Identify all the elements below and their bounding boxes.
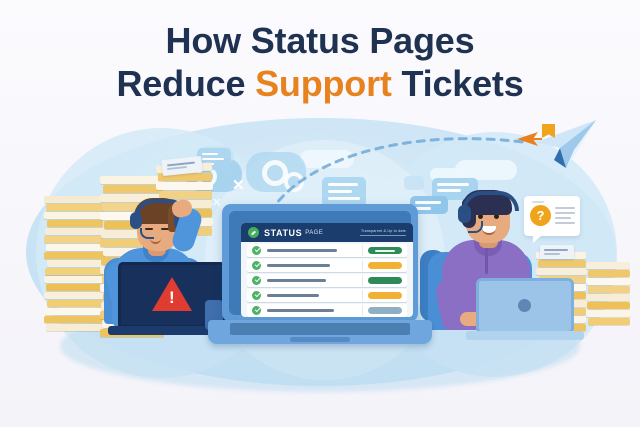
center-laptop: STATUS PAGE Transparent & Up to date (222, 204, 418, 336)
status-row-title-bar (267, 249, 337, 251)
status-row-divider (362, 260, 363, 271)
ticket-doc-line (544, 253, 560, 255)
laptop-keys (230, 323, 410, 335)
ticket-stack (44, 196, 106, 336)
laptop-logo-icon (518, 299, 531, 312)
status-pill-maintenance[interactable] (368, 307, 402, 314)
status-pill-degraded[interactable] (368, 262, 402, 269)
card-text-line (555, 207, 575, 209)
right-laptop-base (466, 331, 584, 340)
warning-exclamation: ! (169, 289, 175, 306)
card-text-line (555, 212, 575, 214)
status-page-brand-suffix: PAGE (305, 230, 323, 236)
laptop-keyboard-base (208, 320, 432, 344)
status-row-label (267, 279, 357, 281)
status-pill-operational[interactable] (368, 247, 402, 254)
illustration-canvas: ✕ ✕ (0, 0, 640, 427)
status-logo-icon (248, 227, 259, 238)
question-magnifier-icon: ? (530, 205, 551, 226)
status-row-title-bar (267, 309, 334, 311)
status-row-label (267, 294, 357, 296)
x-icon: ✕ (232, 176, 245, 194)
check-icon (252, 246, 261, 255)
card-text-line (555, 222, 575, 224)
laptop-bezel: STATUS PAGE Transparent & Up to date (229, 211, 411, 315)
headset-earcup-icon (130, 212, 142, 229)
question-card: ? (524, 196, 580, 236)
status-row-divider (362, 305, 363, 316)
status-row-divider (362, 245, 363, 256)
laptop-lid: STATUS PAGE Transparent & Up to date (222, 204, 418, 322)
ticket-doc-line (544, 249, 568, 251)
status-row-label (267, 264, 357, 266)
status-page-brand: STATUS (264, 228, 302, 238)
title-accent: Support (255, 63, 392, 104)
title-prefix: Reduce (116, 63, 255, 104)
status-page-header: STATUS PAGE Transparent & Up to date (241, 223, 413, 242)
check-icon (252, 276, 261, 285)
title-line-1: How Status Pages (0, 22, 640, 59)
status-row-label (267, 309, 357, 311)
status-page-meta-text: Transparent & Up to date (360, 229, 406, 233)
status-row-divider (362, 275, 363, 286)
status-page-meta: Transparent & Up to date (360, 229, 406, 237)
check-icon (252, 306, 261, 315)
status-row[interactable] (247, 289, 407, 302)
paper-plane-icon (530, 116, 600, 172)
card-text-line (532, 201, 544, 203)
check-icon (252, 291, 261, 300)
status-page-meta-bar (360, 235, 406, 237)
status-row-title-bar (267, 264, 330, 266)
status-row-title-bar (267, 279, 326, 281)
status-page-screen: STATUS PAGE Transparent & Up to date (241, 223, 413, 317)
status-pill-operational[interactable] (368, 277, 402, 284)
status-row[interactable] (247, 244, 407, 257)
status-row[interactable] (247, 304, 407, 317)
title-line-2: Reduce Support Tickets (0, 65, 640, 102)
laptop-trackpad (290, 337, 350, 342)
card-text-line (555, 217, 571, 219)
title-suffix: Tickets (392, 63, 524, 104)
status-row-divider (362, 290, 363, 301)
status-row-title-bar (267, 294, 319, 296)
ticket-stack (586, 262, 632, 334)
page-title: How Status Pages Reduce Support Tickets (0, 22, 640, 103)
ticket-doc (540, 245, 574, 259)
bubble-text-line (202, 158, 224, 160)
status-row[interactable] (247, 259, 407, 272)
status-row[interactable] (247, 274, 407, 287)
status-row-list (241, 242, 413, 317)
status-pill-label (375, 250, 395, 252)
status-pill-degraded[interactable] (368, 292, 402, 299)
bubble-text-line (202, 153, 218, 155)
check-icon (252, 261, 261, 270)
status-row-label (267, 249, 357, 251)
